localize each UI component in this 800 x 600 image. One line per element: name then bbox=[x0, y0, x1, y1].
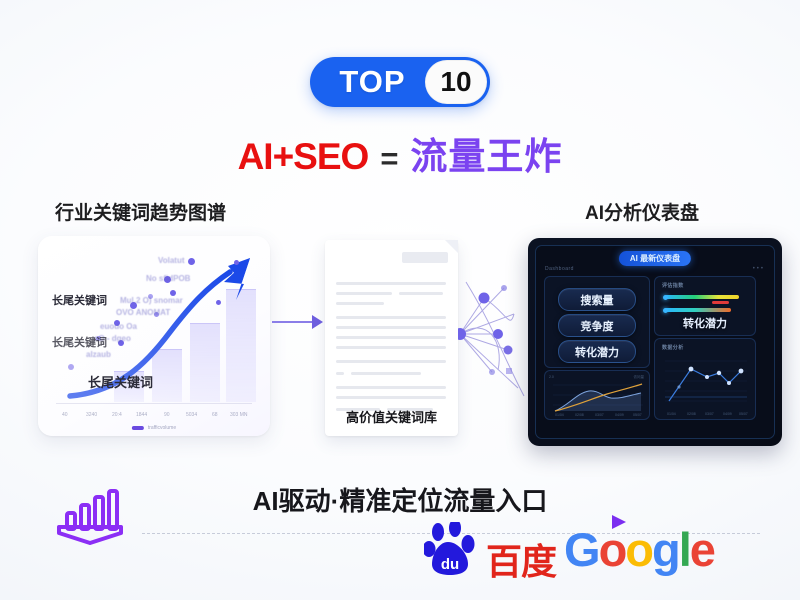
x-tick: 04/09 bbox=[723, 412, 732, 416]
gauge-panel-title: 评估指数 bbox=[662, 282, 684, 289]
gauge-handle[interactable] bbox=[663, 295, 668, 300]
blur-word: Volatut bbox=[158, 256, 185, 265]
gauge-handle[interactable] bbox=[663, 308, 668, 313]
metric-pill-competition[interactable]: 竞争度 bbox=[558, 314, 636, 337]
line-scatter-chart bbox=[655, 339, 755, 419]
baidu-paw-icon: du bbox=[424, 522, 484, 578]
dashboard-screen: AI 最新仪表盘 Dashboard ••• 搜索量 竞争度 转化潜力 2.0 … bbox=[535, 245, 775, 439]
google-letter: l bbox=[679, 523, 690, 576]
legend-swatch bbox=[132, 426, 144, 430]
arrow-right-icon bbox=[272, 312, 324, 332]
top-rank-badge: TOP 10 bbox=[310, 57, 490, 107]
google-letter: o bbox=[625, 523, 652, 576]
x-tick: 05/07 bbox=[739, 412, 748, 416]
google-letter: o bbox=[599, 523, 626, 576]
google-letter: e bbox=[690, 523, 714, 576]
doc-line bbox=[351, 372, 421, 375]
slide-canvas: TOP 10 AI+SEO=流量王炸 行业关键词趋势图谱 AI分析仪表盘 bbox=[0, 0, 800, 600]
page-title: AI+SEO=流量王炸 bbox=[0, 126, 800, 180]
chart-legend: trafficvolume bbox=[132, 425, 176, 431]
document-label: 高价值关键词库 bbox=[325, 407, 458, 426]
headline-right: 流量王炸 bbox=[410, 136, 562, 177]
blur-word: No sfidPOB bbox=[146, 274, 190, 283]
doc-line bbox=[336, 292, 392, 295]
x-tick: 303 MN bbox=[230, 412, 248, 418]
gauge-bar bbox=[665, 308, 731, 312]
blur-word: alzaub bbox=[86, 350, 111, 359]
x-tick: 40 bbox=[62, 412, 68, 418]
doc-bullet bbox=[336, 372, 344, 375]
node-network-graphic bbox=[458, 272, 534, 400]
metrics-panel: 搜索量 竞争度 转化潜力 bbox=[544, 276, 650, 368]
dashboard-menu-icon[interactable]: ••• bbox=[753, 266, 765, 272]
svg-text:du: du bbox=[441, 556, 459, 573]
top-badge-word: TOP bbox=[310, 64, 425, 100]
headline-left: AI+SEO bbox=[238, 136, 369, 177]
metric-pill-conversion[interactable]: 转化潜力 bbox=[558, 340, 636, 363]
doc-line bbox=[336, 336, 446, 339]
x-tick: 04/09 bbox=[615, 413, 624, 417]
x-tick: 02/08 bbox=[575, 413, 584, 417]
x-tick: 90 bbox=[164, 412, 170, 418]
x-tick: 02/08 bbox=[687, 412, 696, 416]
top-badge-number: 10 bbox=[425, 60, 487, 104]
google-wordmark: Google bbox=[564, 521, 739, 579]
trend-area-panel: 2.0 访问量 01/04 02/08 03/07 04/09 05/07 bbox=[544, 370, 650, 420]
x-tick: 01/04 bbox=[667, 412, 676, 416]
keyword-label: 长尾关键词 bbox=[88, 372, 153, 391]
ai-dashboard-card: AI 最新仪表盘 Dashboard ••• 搜索量 竞争度 转化潜力 2.0 … bbox=[528, 238, 782, 446]
keyword-trend-card: Volatut No sfidPOB Mul.2 O) snomar OVO A… bbox=[38, 236, 270, 436]
keyword-label: 长尾关键词 bbox=[52, 292, 107, 308]
google-letter: g bbox=[652, 523, 679, 576]
scatter-panel: 数据分析 bbox=[654, 338, 756, 420]
x-tick: 01/04 bbox=[555, 413, 564, 417]
dashboard-tag: Dashboard bbox=[545, 266, 574, 272]
baidu-logo[interactable]: du 百度 bbox=[424, 522, 564, 580]
blur-word: euouo Oa bbox=[100, 322, 137, 331]
doc-line bbox=[336, 346, 446, 349]
blur-word: Mul.2 O) snomar bbox=[120, 296, 183, 305]
caption-left-chart: 行业关键词趋势图谱 bbox=[55, 198, 226, 225]
gauge-panel: 评估指数 转化潜力 bbox=[654, 276, 756, 336]
keyword-library-document: 高价值关键词库 bbox=[325, 240, 458, 436]
gauge-overlay-label: 转化潜力 bbox=[655, 315, 755, 331]
metric-pill-search-volume[interactable]: 搜索量 bbox=[558, 288, 636, 311]
gauge-marker bbox=[712, 301, 729, 304]
doc-line bbox=[399, 292, 443, 295]
doc-header-chip bbox=[402, 252, 448, 263]
x-tick: 20:4 bbox=[112, 412, 122, 418]
headline-equals: = bbox=[380, 141, 398, 176]
gauge-bar bbox=[665, 295, 739, 299]
x-tick: 68 bbox=[212, 412, 218, 418]
doc-line bbox=[336, 386, 446, 389]
x-tick: 05/07 bbox=[633, 413, 642, 417]
doc-line bbox=[336, 360, 446, 363]
x-tick: 5034 bbox=[186, 412, 197, 418]
caption-right-dashboard: AI分析仪表盘 bbox=[585, 198, 699, 225]
x-tick: 03/07 bbox=[705, 412, 714, 416]
baidu-wordmark: 百度 bbox=[486, 533, 556, 585]
dashboard-title-badge: AI 最新仪表盘 bbox=[619, 251, 691, 266]
blur-word: OVO ANOMAT bbox=[116, 308, 170, 317]
doc-line bbox=[336, 396, 446, 399]
doc-line bbox=[336, 302, 384, 305]
scatter-dot bbox=[188, 258, 195, 265]
doc-line bbox=[336, 282, 446, 285]
scatter-dot bbox=[234, 260, 239, 265]
doc-line bbox=[336, 326, 446, 329]
scatter-dot bbox=[216, 300, 221, 305]
x-tick: 1844 bbox=[136, 412, 147, 418]
area-chart bbox=[545, 371, 649, 419]
keyword-label: 长尾关键词 bbox=[52, 334, 107, 350]
google-letter: G bbox=[564, 523, 599, 576]
scatter-dot bbox=[68, 364, 74, 370]
x-tick: 3240 bbox=[86, 412, 97, 418]
legend-label: trafficvolume bbox=[148, 425, 176, 431]
analytics-badge-icon bbox=[47, 485, 133, 547]
google-logo[interactable]: Google bbox=[564, 521, 739, 579]
doc-line bbox=[336, 316, 446, 319]
x-tick: 03/07 bbox=[595, 413, 604, 417]
